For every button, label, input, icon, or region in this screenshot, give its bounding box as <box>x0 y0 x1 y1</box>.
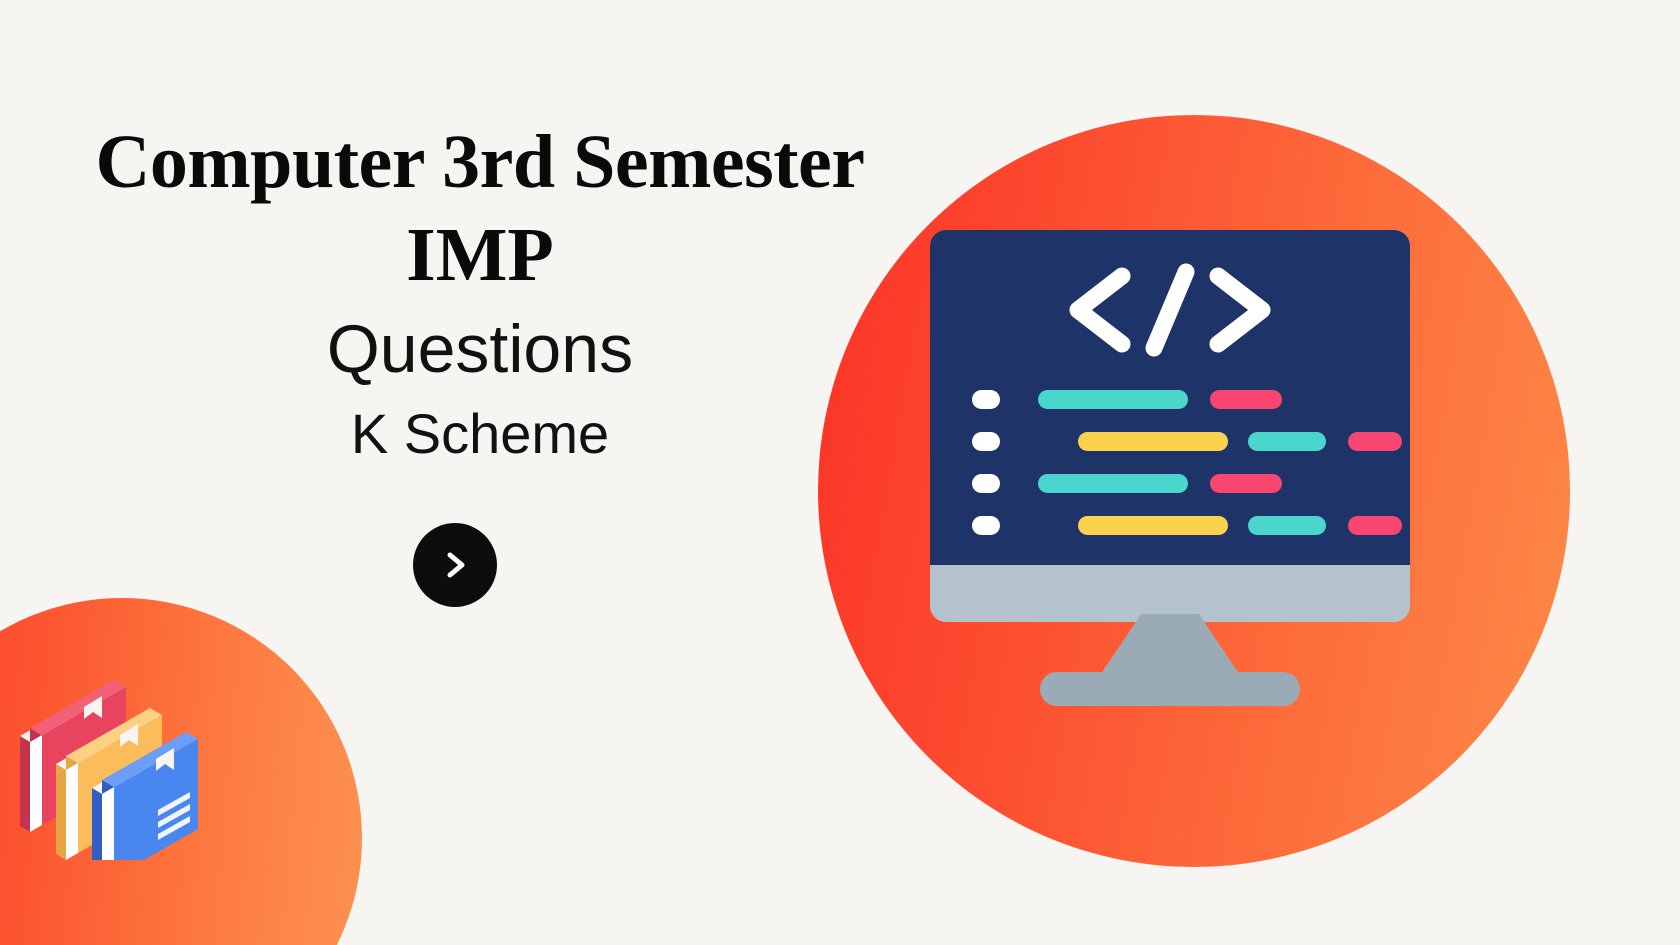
monitor-screen <box>930 230 1410 565</box>
page-scheme-label: K Scheme <box>60 403 900 465</box>
code-bullet <box>972 432 1000 451</box>
code-bar <box>1248 432 1326 451</box>
code-line <box>930 462 1410 504</box>
code-brackets-icon <box>930 254 1410 366</box>
code-bar <box>1038 390 1188 409</box>
text-block: Computer 3rd Semester IMP Questions K Sc… <box>60 120 900 465</box>
page-subtitle: Questions <box>60 312 900 387</box>
code-line <box>930 378 1410 420</box>
monitor-stand-neck <box>1098 614 1242 678</box>
code-lines <box>930 378 1410 546</box>
chevron-right-icon <box>437 547 473 583</box>
page-title-line-2: IMP <box>60 205 900 298</box>
code-bullet <box>972 390 1000 409</box>
desktop-monitor <box>930 230 1410 710</box>
stacked-books <box>14 660 224 860</box>
code-bar <box>1248 516 1326 535</box>
code-line <box>930 420 1410 462</box>
code-bar <box>1078 432 1228 451</box>
code-bullet <box>972 516 1000 535</box>
code-bar <box>1348 432 1402 451</box>
code-bar <box>1078 516 1228 535</box>
monitor-bezel <box>930 230 1410 622</box>
code-bar <box>1210 390 1282 409</box>
code-bar <box>1348 516 1402 535</box>
monitor-stand-base <box>1040 672 1300 706</box>
code-bar <box>1038 474 1188 493</box>
code-bar <box>1210 474 1282 493</box>
code-bullet <box>972 474 1000 493</box>
next-button[interactable] <box>413 523 497 607</box>
code-line <box>930 504 1410 546</box>
poster-canvas: Computer 3rd Semester IMP Questions K Sc… <box>0 0 1680 945</box>
page-title-line-1: Computer 3rd Semester <box>60 120 900 205</box>
